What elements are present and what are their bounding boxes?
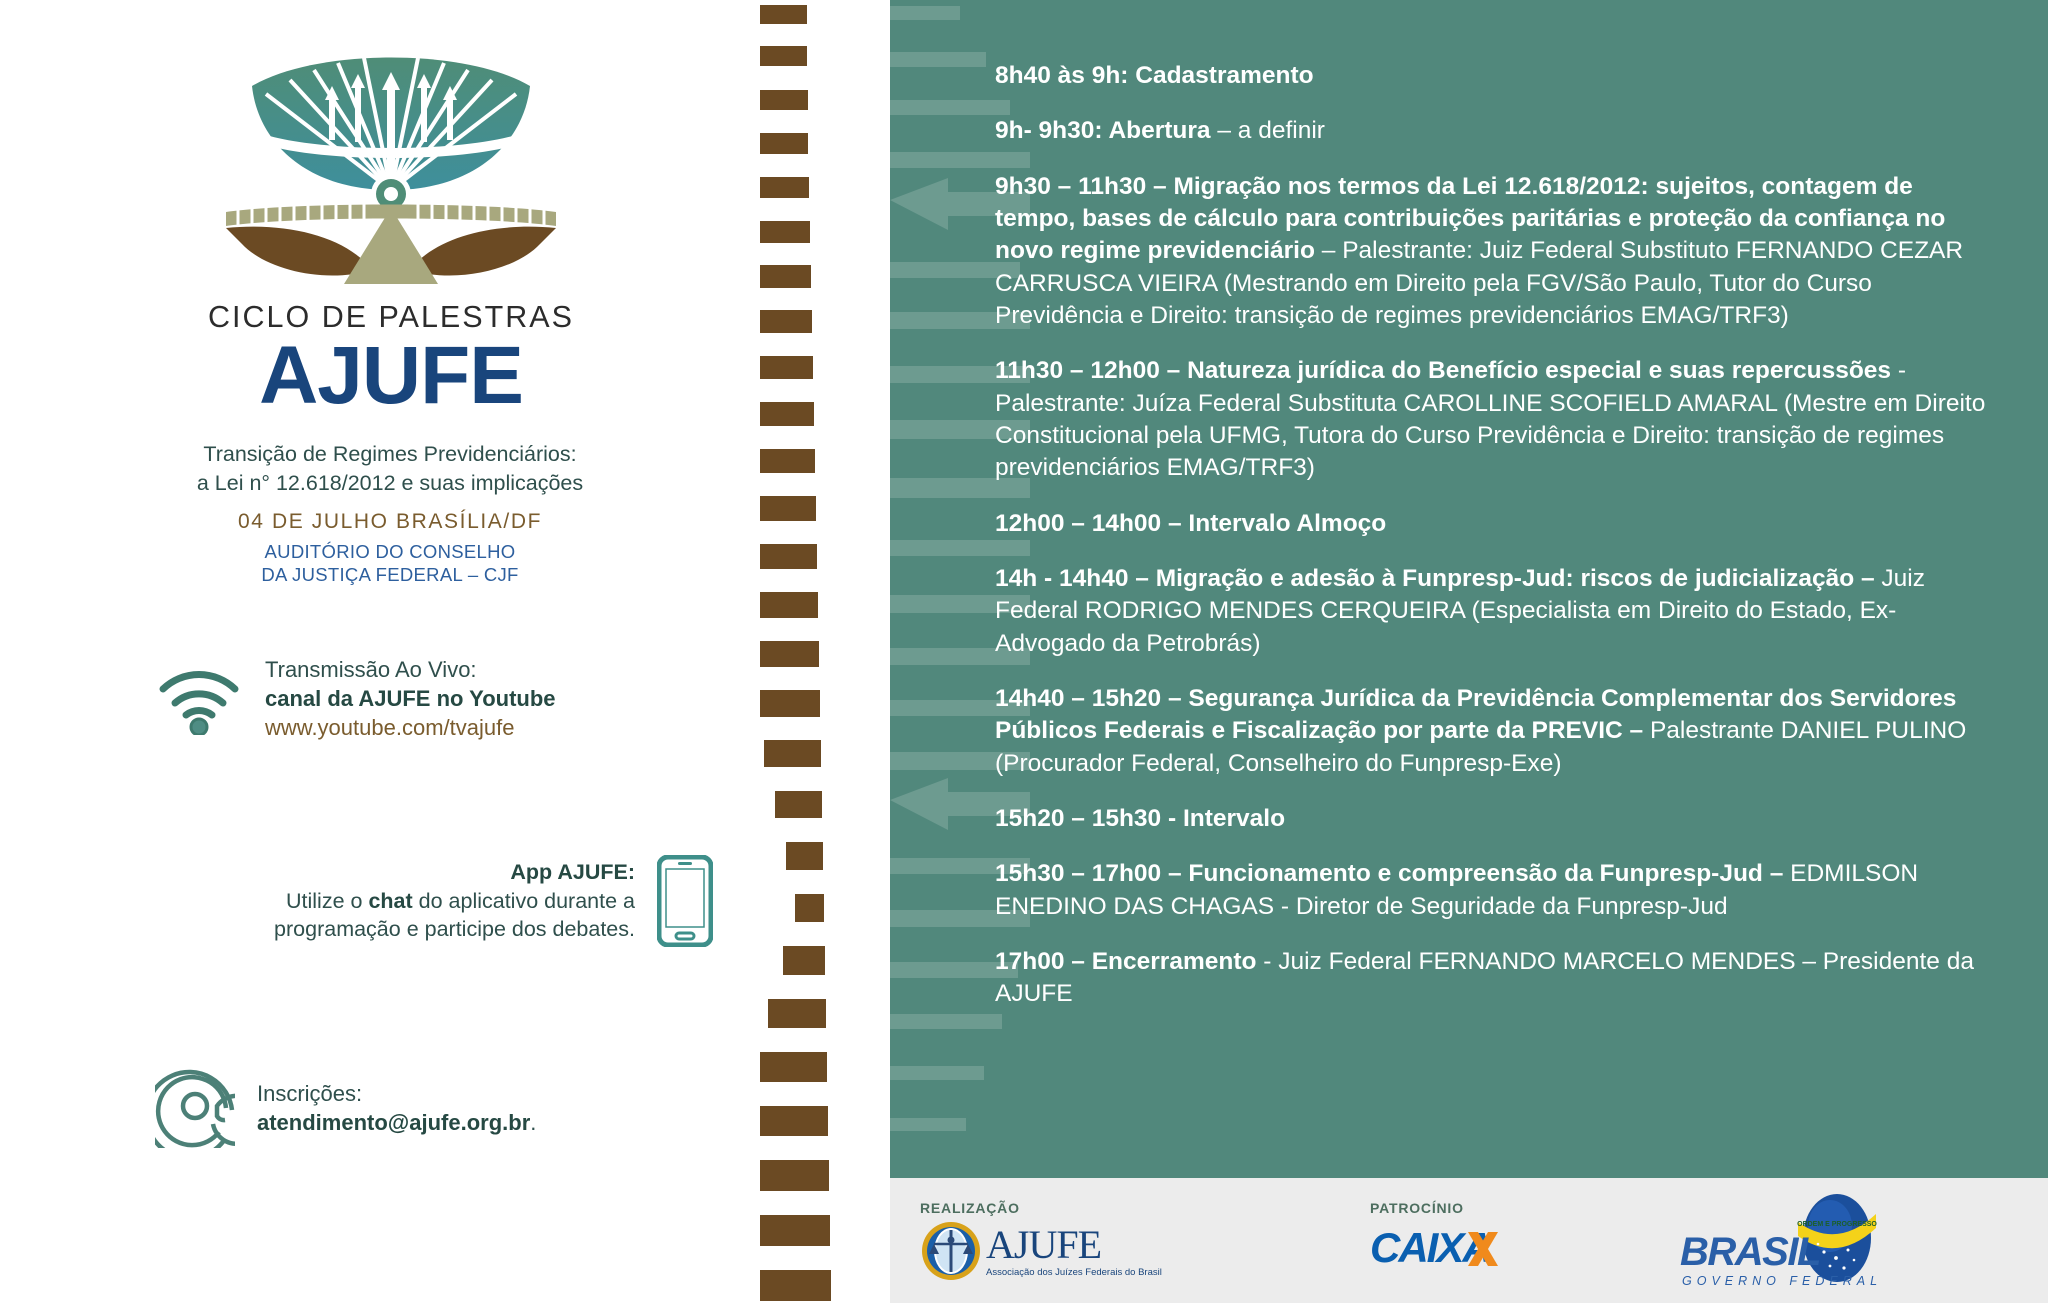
schedule-item: 17h00 – Encerramento - Juiz Federal FERN… xyxy=(995,946,1995,1011)
registration-email[interactable]: atendimento@ajufe.org.br xyxy=(257,1110,530,1135)
broadcast-text: Transmissão Ao Vivo: canal da AJUFE no Y… xyxy=(265,655,556,742)
app-block: App AJUFE: Utilize o chat do aplicativo … xyxy=(215,855,713,947)
event-venue-line2: DA JUSTIÇA FEDERAL – CJF xyxy=(150,563,630,586)
wifi-icon xyxy=(155,663,243,735)
schedule-item: 11h30 – 12h00 – Natureza jurídica do Ben… xyxy=(995,355,1995,484)
realizacao-block: REALIZAÇÃO AJUFE Associação dos Juízes F… xyxy=(920,1200,1162,1282)
patrocinio-label: PATROCÍNIO xyxy=(1370,1200,1491,1216)
ajufe-sunburst-icon xyxy=(186,22,596,312)
ajufe-seal-icon xyxy=(920,1220,982,1282)
app-line1-c: do aplicativo durante a xyxy=(413,889,635,913)
registration-label: Inscrições: xyxy=(257,1079,536,1108)
brasil-block: ORDEM E PROGRESSO BRASIL GOVERNO FEDERAL xyxy=(1680,1192,1970,1292)
schedule-item-title: 12h00 – 14h00 – Intervalo Almoço xyxy=(995,510,1386,537)
left-info-panel: CICLO DE PALESTRAS AJUFE Transição de Re… xyxy=(0,0,760,1303)
schedule-item: 14h - 14h40 – Migração e adesão à Funpre… xyxy=(995,563,1995,660)
smartphone-icon xyxy=(657,855,713,947)
broadcast-block: Transmissão Ao Vivo: canal da AJUFE no Y… xyxy=(155,655,556,742)
schedule-item: 8h40 às 9h: Cadastramento xyxy=(995,60,1995,92)
patrocinio-block: PATROCÍNIO CAIXA xyxy=(1370,1200,1491,1276)
registration-email-line[interactable]: atendimento@ajufe.org.br. xyxy=(257,1108,536,1137)
ajufe-tagline: Associação dos Juízes Federais do Brasil xyxy=(986,1267,1162,1278)
app-line1-a: Utilize o xyxy=(286,889,368,913)
app-title: App AJUFE: xyxy=(215,858,635,887)
ajufe-logo: AJUFE Associação dos Juízes Federais do … xyxy=(920,1220,1162,1282)
app-line1-b: chat xyxy=(368,889,412,913)
schedule-item-title: 15h20 – 15h30 - Intervalo xyxy=(995,805,1285,832)
schedule-item-title: 8h40 às 9h: Cadastramento xyxy=(995,62,1314,89)
event-subtitle-line1: Transição de Regimes Previdenciários: xyxy=(150,440,630,469)
schedule-item: 12h00 – 14h00 – Intervalo Almoço xyxy=(995,508,1995,540)
schedule-item-title: 14h - 14h40 – Migração e adesão à Funpre… xyxy=(995,565,1875,592)
realizacao-label: REALIZAÇÃO xyxy=(920,1200,1162,1216)
schedule-item-title: 15h30 – 17h00 – Funcionamento e compreen… xyxy=(995,860,1783,887)
schedule-item: 15h20 – 15h30 - Intervalo xyxy=(995,803,1995,835)
event-venue: AUDITÓRIO DO CONSELHO DA JUSTIÇA FEDERAL… xyxy=(150,540,630,586)
event-subtitle-line2: a Lei n° 12.618/2012 e suas implicações xyxy=(150,469,630,498)
broadcast-url[interactable]: www.youtube.com/tvajufe xyxy=(265,713,556,742)
registration-email-suffix: . xyxy=(530,1110,536,1135)
brasil-wordmark: BRASIL xyxy=(1680,1232,1820,1272)
app-line1: Utilize o chat do aplicativo durante a xyxy=(215,887,635,916)
schedule-list: 8h40 às 9h: Cadastramento 9h- 9h30: Aber… xyxy=(995,60,1995,1034)
schedule-item: 9h- 9h30: Abertura – a definir xyxy=(995,115,1995,147)
event-subtitle: Transição de Regimes Previdenciários: a … xyxy=(150,440,630,497)
registration-text: Inscrições: atendimento@ajufe.org.br. xyxy=(257,1079,536,1138)
event-logo xyxy=(186,22,596,322)
schedule-item: 9h30 – 11h30 – Migração nos termos da Le… xyxy=(995,171,1995,333)
event-venue-line1: AUDITÓRIO DO CONSELHO xyxy=(150,540,630,563)
brasil-logo: ORDEM E PROGRESSO BRASIL GOVERNO FEDERAL xyxy=(1680,1192,1970,1292)
event-acronym: AJUFE xyxy=(186,335,596,417)
broadcast-channel: canal da AJUFE no Youtube xyxy=(265,684,556,713)
app-text: App AJUFE: Utilize o chat do aplicativo … xyxy=(215,858,635,944)
registration-block: Inscrições: atendimento@ajufe.org.br. xyxy=(155,1068,536,1148)
poster-canvas: 8h40 às 9h: Cadastramento 9h- 9h30: Aber… xyxy=(0,0,2048,1303)
schedule-item: 14h40 – 15h20 – Segurança Jurídica da Pr… xyxy=(995,683,1995,780)
schedule-item-detail: – a definir xyxy=(1211,117,1325,144)
schedule-panel: 8h40 às 9h: Cadastramento 9h- 9h30: Aber… xyxy=(890,0,2048,1178)
caixa-logo: CAIXA xyxy=(1370,1220,1491,1276)
governo-federal-label: GOVERNO FEDERAL xyxy=(1682,1274,1882,1288)
brasil-motto: ORDEM E PROGRESSO xyxy=(1797,1221,1877,1228)
app-line2: programação e participe dos debates. xyxy=(215,915,635,944)
ajufe-wordmark: AJUFE xyxy=(986,1225,1162,1265)
at-sign-icon xyxy=(155,1068,235,1148)
schedule-item-title: 17h00 – Encerramento xyxy=(995,948,1256,975)
schedule-item-title: 11h30 – 12h00 – Natureza jurídica do Ben… xyxy=(995,357,1891,384)
schedule-item: 15h30 – 17h00 – Funcionamento e compreen… xyxy=(995,858,1995,923)
caixa-x-icon xyxy=(1466,1230,1500,1268)
schedule-item-title: 9h- 9h30: Abertura xyxy=(995,117,1211,144)
sponsor-footer: REALIZAÇÃO AJUFE Associação dos Juízes F… xyxy=(890,1178,2048,1303)
broadcast-label: Transmissão Ao Vivo: xyxy=(265,655,556,684)
event-date-location: 04 DE JULHO BRASÍLIA/DF xyxy=(150,510,630,534)
